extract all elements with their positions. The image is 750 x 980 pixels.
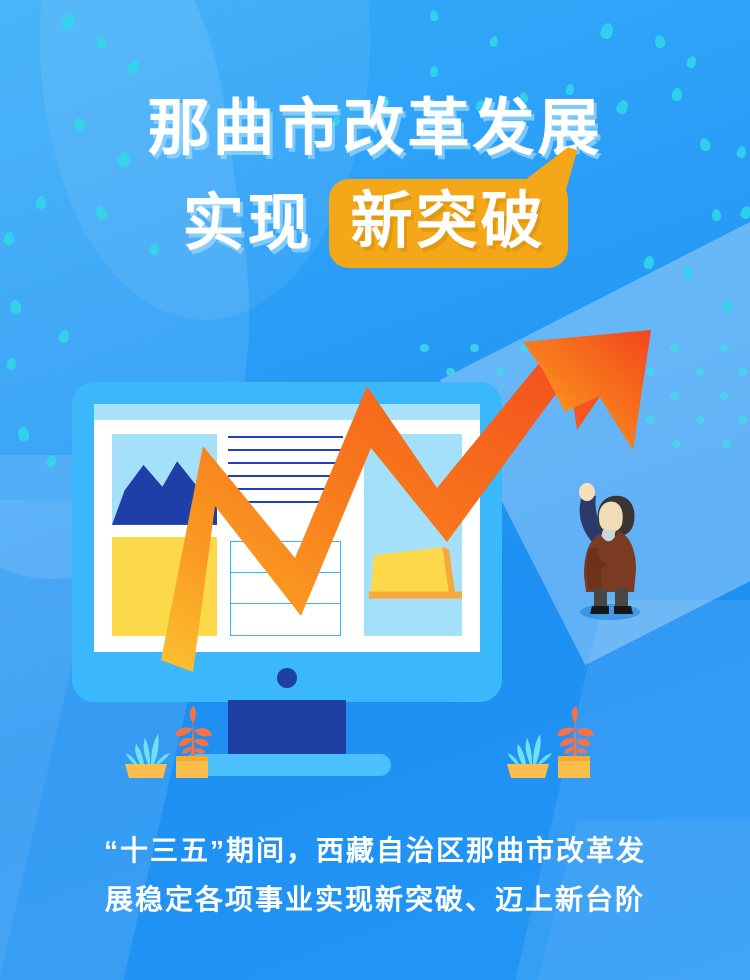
area-chart-icon — [112, 434, 217, 525]
grid-dot-14 — [738, 368, 747, 376]
grid-dot-1 — [420, 344, 429, 352]
grid-dot-5 — [620, 344, 629, 352]
grid-dot-10 — [546, 368, 555, 376]
poster-title: 那曲市改革发展 实现 新突破 — [0, 96, 750, 268]
screen-table-row — [231, 542, 341, 573]
grid-dot-26 — [722, 440, 731, 448]
grid-dot-13 — [696, 368, 705, 376]
drop-shape-27 — [429, 65, 438, 77]
person-illustration — [552, 452, 662, 622]
coral-leaf-plant-left — [175, 706, 212, 778]
screen-mini-table — [230, 541, 342, 636]
drop-shape-34 — [489, 35, 499, 47]
grid-dot-25 — [672, 440, 681, 448]
grid-dot-7 — [720, 344, 729, 352]
drop-shape-12 — [6, 358, 16, 371]
screen-text-lines — [228, 436, 344, 514]
grid-dot-23 — [696, 416, 705, 424]
cyan-fan-plant-left — [125, 734, 170, 778]
screen-right-panel — [364, 434, 462, 636]
grid-dot-9 — [496, 368, 505, 376]
grid-dot-24 — [738, 416, 747, 424]
grid-dot-20 — [670, 392, 679, 400]
screen-table-row — [231, 573, 341, 604]
grid-dot-6 — [670, 344, 679, 352]
drop-shape-11 — [57, 329, 70, 344]
screen-content — [112, 434, 462, 636]
screen-text-line — [228, 501, 344, 503]
plant-group-left — [118, 706, 238, 786]
screen-middle-column — [228, 434, 344, 636]
person-hand — [579, 483, 595, 501]
person-shoe-right — [614, 606, 633, 614]
grid-dot-12 — [646, 368, 655, 376]
coral-leaf-plant-right — [557, 706, 594, 778]
drop-shape-3 — [126, 58, 141, 75]
screen-text-line — [228, 488, 344, 490]
drop-shape-13 — [17, 426, 31, 442]
grid-dot-11 — [596, 368, 605, 376]
person-face — [599, 502, 623, 532]
screen-area-chart-panel — [112, 434, 217, 525]
grid-dot-2 — [470, 344, 479, 352]
caption-line-2: 展稳定各项事业实现新突破、迈上新台阶 — [0, 875, 750, 924]
drop-shape-15 — [599, 22, 615, 40]
drop-shape-1 — [60, 12, 76, 31]
title-plain-text: 实现 — [182, 191, 312, 256]
plant-group-right — [500, 706, 620, 786]
screen-text-line — [228, 475, 344, 477]
drop-shape-16 — [654, 34, 666, 49]
grid-dot-17 — [520, 392, 529, 400]
drop-shape-23 — [686, 55, 698, 69]
grid-dot-3 — [520, 344, 529, 352]
title-line-2: 实现 新突破 — [0, 179, 750, 268]
grid-dot-8 — [446, 368, 455, 376]
grid-dot-21 — [720, 392, 729, 400]
monitor-screen — [94, 404, 480, 652]
laptop-icon — [364, 434, 462, 636]
drop-shape-32 — [722, 299, 734, 313]
screen-table-row — [231, 604, 341, 635]
drop-shape-10 — [9, 299, 22, 314]
drop-shape-14 — [45, 454, 57, 468]
drop-shape-33 — [429, 9, 438, 21]
infographic-poster: 那曲市改革发展 实现 新突破 — [0, 0, 750, 980]
grid-dot-19 — [620, 392, 629, 400]
grid-dot-4 — [570, 344, 579, 352]
cyan-fan-plant-right — [507, 734, 552, 778]
monitor-illustration — [72, 382, 502, 702]
screen-text-line — [228, 462, 344, 464]
screen-text-line — [228, 449, 344, 451]
title-badge-text: 新突破 — [351, 187, 546, 256]
caption-line-1: “十三五”期间，西藏自治区那曲市改革发 — [0, 826, 750, 875]
screen-text-line — [228, 436, 344, 438]
person-shoe-left — [590, 606, 609, 614]
screen-yellow-block — [112, 537, 217, 636]
title-line-1: 那曲市改革发展 — [0, 96, 750, 161]
screen-titlebar — [94, 404, 480, 420]
monitor-stand-neck — [228, 700, 346, 762]
title-highlight-badge: 新突破 — [329, 179, 568, 268]
monitor-power-dot-icon — [277, 668, 297, 688]
grid-dot-18 — [570, 392, 579, 400]
poster-caption: “十三五”期间，西藏自治区那曲市改革发 展稳定各项事业实现新突破、迈上新台阶 — [0, 826, 750, 924]
drop-shape-2 — [96, 36, 107, 49]
grid-dot-22 — [646, 416, 655, 424]
